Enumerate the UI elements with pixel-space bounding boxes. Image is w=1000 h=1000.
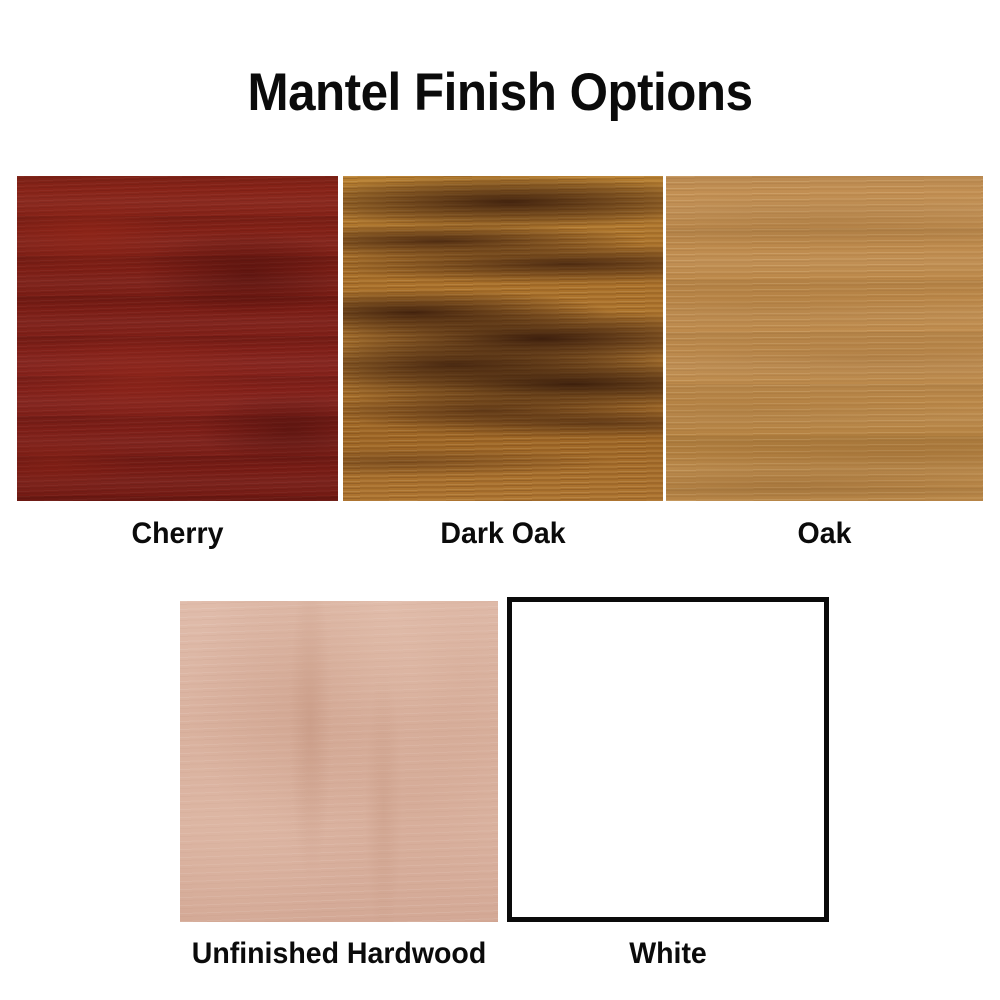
- swatch-label-oak: Oak: [674, 518, 975, 550]
- swatch-dark-oak[interactable]: [343, 176, 663, 501]
- finish-options-board: Mantel Finish Options Cherry Dark Oak Oa…: [0, 0, 1000, 1000]
- swatch-label-white: White: [515, 938, 821, 970]
- swatch-label-cherry: Cherry: [25, 518, 330, 550]
- swatch-label-unfinished-hardwood: Unfinished Hardwood: [188, 938, 490, 970]
- swatch-cherry-surface: [17, 176, 338, 501]
- swatch-oak[interactable]: [666, 176, 983, 501]
- swatch-white-surface: [512, 602, 824, 917]
- swatch-oak-surface: [666, 176, 983, 501]
- swatch-label-dark-oak: Dark Oak: [351, 518, 655, 550]
- swatch-unfinished-hardwood[interactable]: [180, 601, 498, 922]
- swatch-white[interactable]: [507, 597, 829, 922]
- page-title: Mantel Finish Options: [35, 64, 965, 122]
- swatch-unfinished-hardwood-surface: [180, 601, 498, 922]
- swatch-cherry[interactable]: [17, 176, 338, 501]
- swatch-dark-oak-surface: [343, 176, 663, 501]
